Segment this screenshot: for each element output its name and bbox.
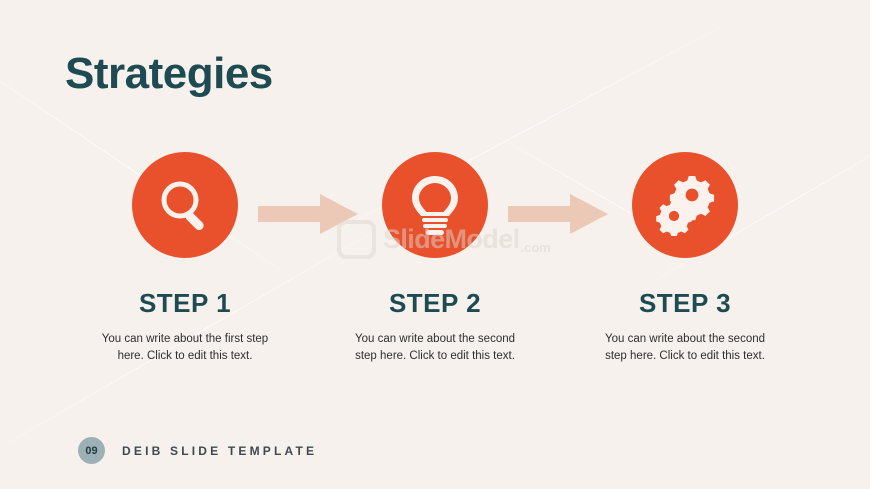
step-2-icon-circle[interactable] <box>382 152 488 258</box>
step-item-1[interactable]: STEP 1 You can write about the first ste… <box>60 152 310 364</box>
step-1-icon-circle[interactable] <box>132 152 238 258</box>
step-item-2[interactable]: STEP 2 You can write about the second st… <box>310 152 560 364</box>
slide-number-badge: 09 <box>78 437 105 464</box>
step-1-body: You can write about the first step here.… <box>96 331 274 364</box>
step-2-title: STEP 2 <box>389 288 481 319</box>
magnifier-icon <box>155 175 215 235</box>
step-2-body: You can write about the second step here… <box>346 331 524 364</box>
gears-icon <box>654 174 716 236</box>
slide-canvas: Strategies STEP 1 You can write about th… <box>0 0 870 489</box>
steps-row: STEP 1 You can write about the first ste… <box>60 152 810 364</box>
page-title: Strategies <box>65 52 273 96</box>
step-item-3[interactable]: STEP 3 You can write about the second st… <box>560 152 810 364</box>
step-3-icon-circle[interactable] <box>632 152 738 258</box>
step-1-title: STEP 1 <box>139 288 231 319</box>
footer: 09 DEIB SLIDE TEMPLATE <box>78 437 317 464</box>
footer-label: DEIB SLIDE TEMPLATE <box>122 444 317 458</box>
step-3-body: You can write about the second step here… <box>596 331 774 364</box>
step-3-title: STEP 3 <box>639 288 731 319</box>
lightbulb-icon <box>406 174 464 236</box>
